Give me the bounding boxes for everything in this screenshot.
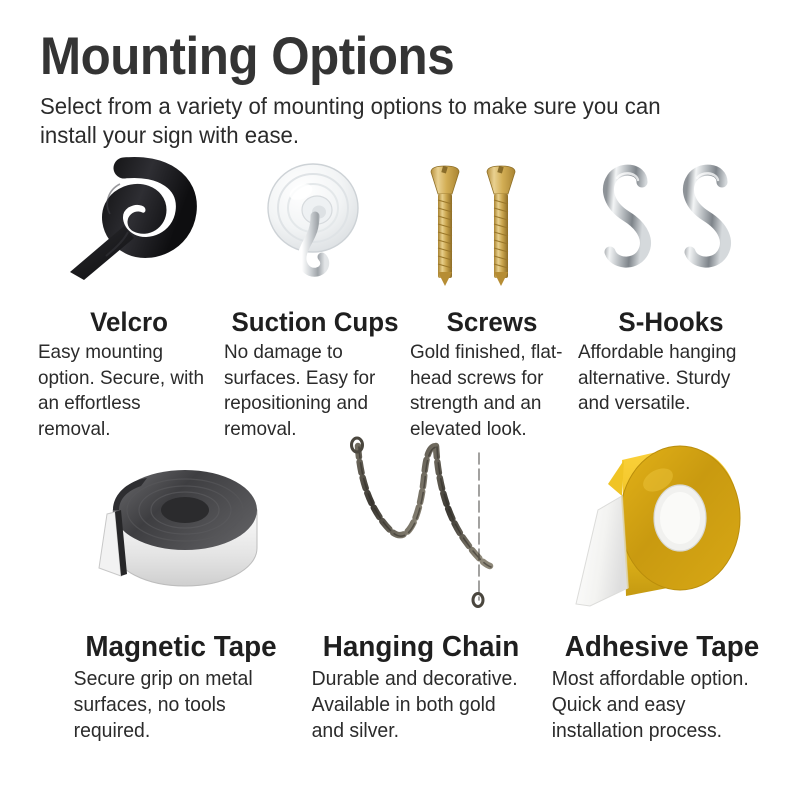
magnetic-tape-roll-icon xyxy=(81,448,281,608)
option-title: Adhesive Tape xyxy=(547,630,777,664)
hanging-chain-art xyxy=(300,448,542,608)
mounting-options-page: Mounting Options Select from a variety o… xyxy=(0,0,804,804)
options-row-2: Magnetic Tape Secure grip on metal surfa… xyxy=(0,448,804,744)
flat-head-screws-icon xyxy=(427,160,557,292)
suction-cup-hook-icon xyxy=(245,160,385,292)
option-card-hanging-chain[interactable]: Hanging Chain Durable and decorative. Av… xyxy=(300,448,542,744)
option-title: Suction Cups xyxy=(226,306,405,338)
options-row-1: Velcro Easy mounting option. Secure, wit… xyxy=(0,160,804,442)
option-card-screws[interactable]: Screws Gold finished, flat-head screws f… xyxy=(408,160,576,442)
option-description: Affordable hanging alternative. Sturdy a… xyxy=(576,340,760,417)
option-description: Gold finished, flat-head screws for stre… xyxy=(408,340,571,442)
screws-art xyxy=(408,160,576,292)
option-description: Durable and decorative. Available in bot… xyxy=(300,666,535,744)
option-description: No damage to surfaces. Easy for repositi… xyxy=(222,340,402,442)
option-description: Easy mounting option. Secure, with an ef… xyxy=(36,340,216,442)
suction-cup-art xyxy=(222,160,408,292)
option-title: Hanging Chain xyxy=(305,630,537,664)
adhesive-tape-art xyxy=(542,448,782,608)
hanging-chain-icon xyxy=(326,438,516,608)
option-description: Secure grip on metal surfaces, no tools … xyxy=(62,666,293,744)
page-title: Mounting Options xyxy=(40,28,713,86)
option-card-magnetic-tape[interactable]: Magnetic Tape Secure grip on metal surfa… xyxy=(62,448,300,744)
option-card-suction-cups[interactable]: Suction Cups No damage to surfaces. Easy… xyxy=(222,160,408,442)
option-title: Velcro xyxy=(40,306,219,338)
page-subtitle: Select from a variety of mounting option… xyxy=(40,92,706,150)
velcro-strap-icon xyxy=(54,160,204,292)
adhesive-tape-roll-icon xyxy=(562,438,762,608)
option-card-s-hooks[interactable]: S-Hooks Affordable hanging alternative. … xyxy=(576,160,766,442)
option-card-velcro[interactable]: Velcro Easy mounting option. Secure, wit… xyxy=(36,160,222,442)
magnetic-tape-art xyxy=(62,448,300,608)
option-title: S-Hooks xyxy=(580,306,762,338)
header: Mounting Options Select from a variety o… xyxy=(40,28,764,150)
option-title: Magnetic Tape xyxy=(67,630,295,664)
s-hooks-icon xyxy=(596,160,746,292)
option-title: Screws xyxy=(411,306,572,338)
option-card-adhesive-tape[interactable]: Adhesive Tape Most affordable option. Qu… xyxy=(542,448,782,744)
s-hooks-art xyxy=(576,160,766,292)
velcro-strap-art xyxy=(36,160,222,292)
option-description: Most affordable option. Quick and easy i… xyxy=(542,666,775,744)
